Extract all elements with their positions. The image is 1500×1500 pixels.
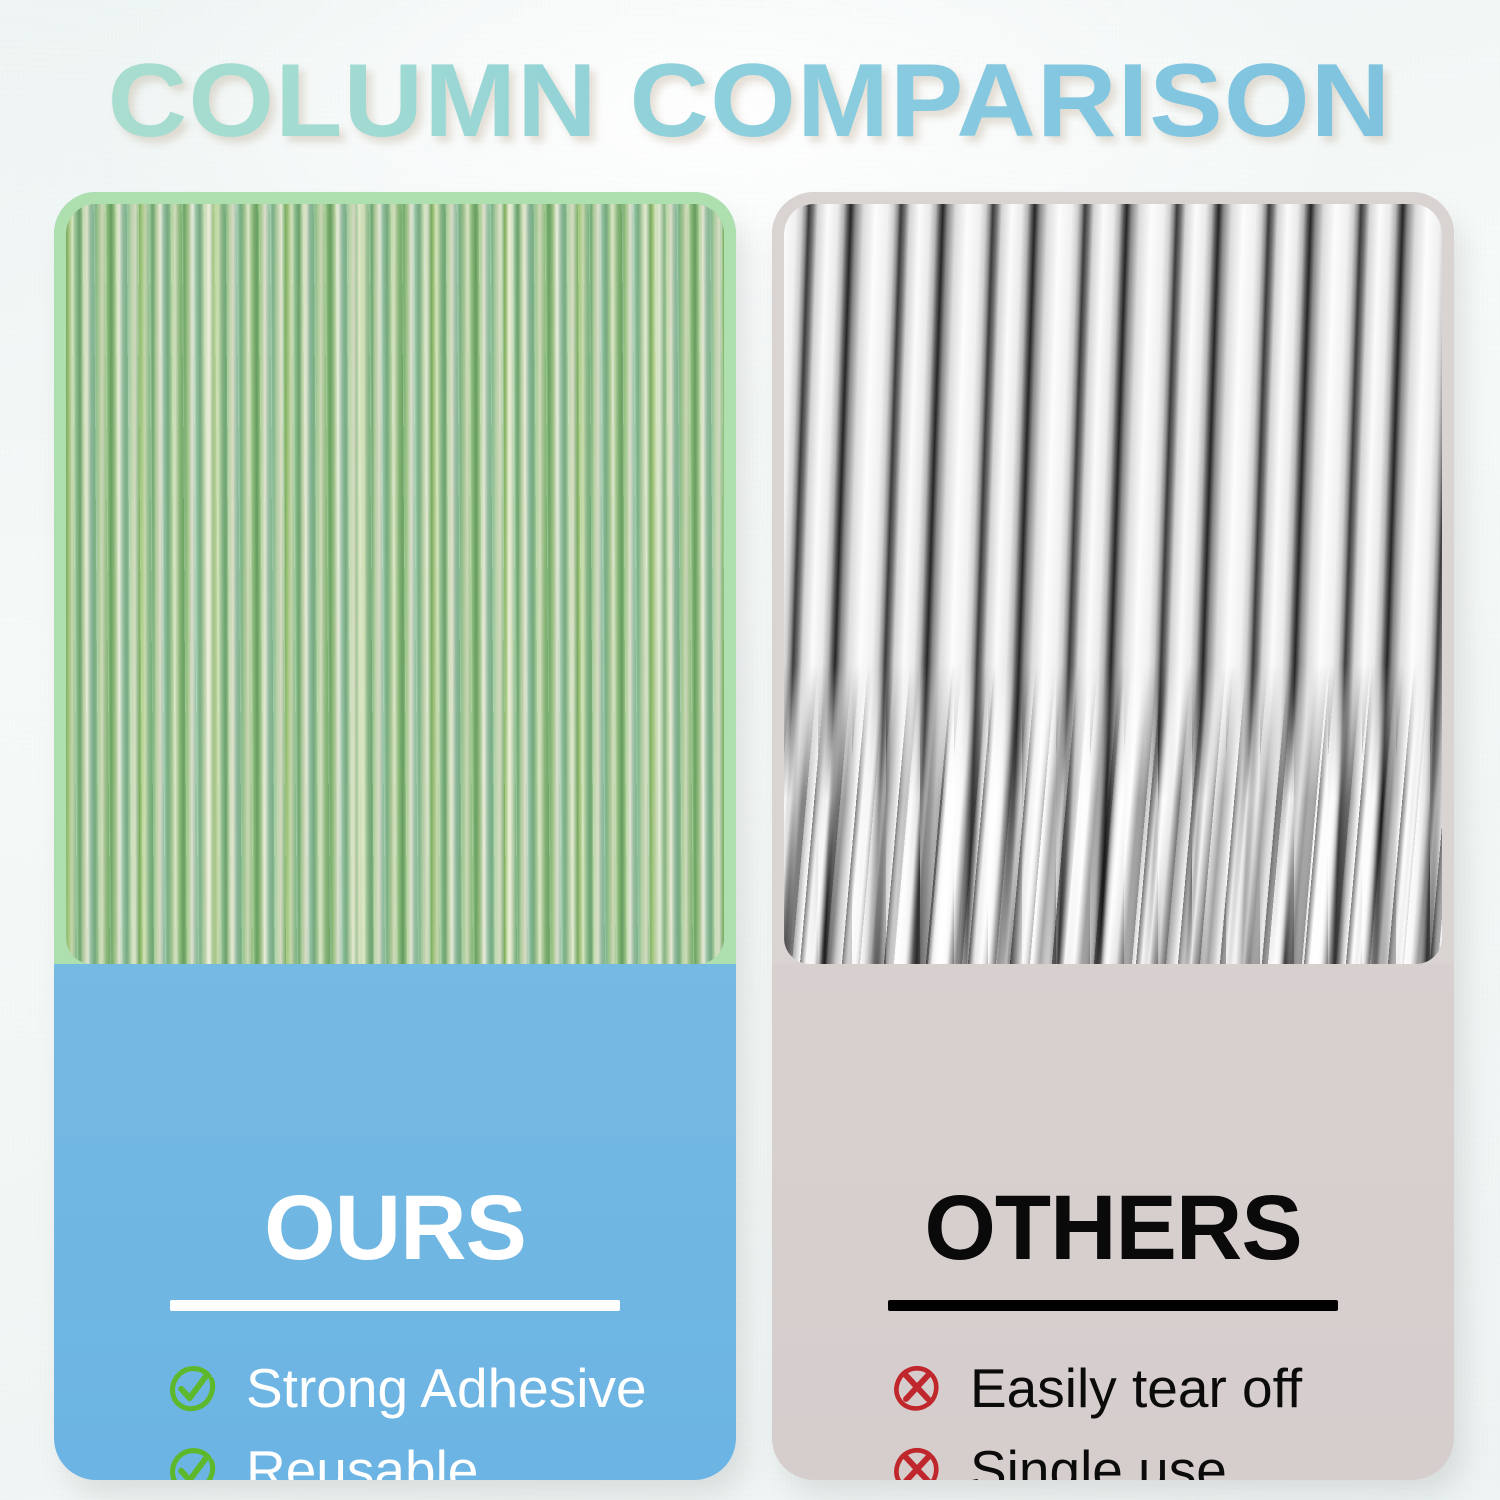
ours-divider xyxy=(170,1300,620,1311)
cross-circle-icon xyxy=(890,1361,944,1415)
others-product-photo xyxy=(784,204,1442,964)
page-title-container: COLUMN COMPARISON xyxy=(0,48,1500,154)
green-fringe-curtain-image xyxy=(66,204,724,964)
feature-label: Single use xyxy=(970,1443,1227,1481)
ours-panel-body: OURS Strong Adhesive Reusable xyxy=(54,964,736,1480)
list-item: Strong Adhesive xyxy=(166,1347,736,1429)
check-circle-icon xyxy=(166,1361,220,1415)
ours-heading: OURS xyxy=(54,1182,736,1274)
comparison-card-others: OTHERS Easily tear off Single use xyxy=(772,192,1454,1480)
feature-label: Strong Adhesive xyxy=(246,1361,647,1416)
others-panel-body: OTHERS Easily tear off Single use xyxy=(772,964,1454,1480)
others-divider xyxy=(888,1300,1338,1311)
feature-label: Reusable xyxy=(246,1443,478,1481)
list-item: Single use xyxy=(890,1429,1454,1480)
ours-feature-list: Strong Adhesive Reusable Long xyxy=(54,1347,736,1480)
ours-product-photo xyxy=(66,204,724,964)
feature-label: Easily tear off xyxy=(970,1361,1302,1416)
comparison-card-ours: OURS Strong Adhesive Reusable xyxy=(54,192,736,1480)
others-feature-list: Easily tear off Single use Short xyxy=(772,1347,1454,1480)
cross-circle-icon xyxy=(890,1443,944,1480)
list-item: Easily tear off xyxy=(890,1347,1454,1429)
ours-photo-frame xyxy=(54,192,736,964)
list-item: Reusable xyxy=(166,1429,736,1480)
others-photo-frame xyxy=(772,192,1454,964)
check-circle-icon xyxy=(166,1443,220,1480)
others-heading: OTHERS xyxy=(772,1182,1454,1274)
silver-fringe-curtain-image xyxy=(784,204,1442,964)
page-title: COLUMN COMPARISON xyxy=(108,48,1392,154)
